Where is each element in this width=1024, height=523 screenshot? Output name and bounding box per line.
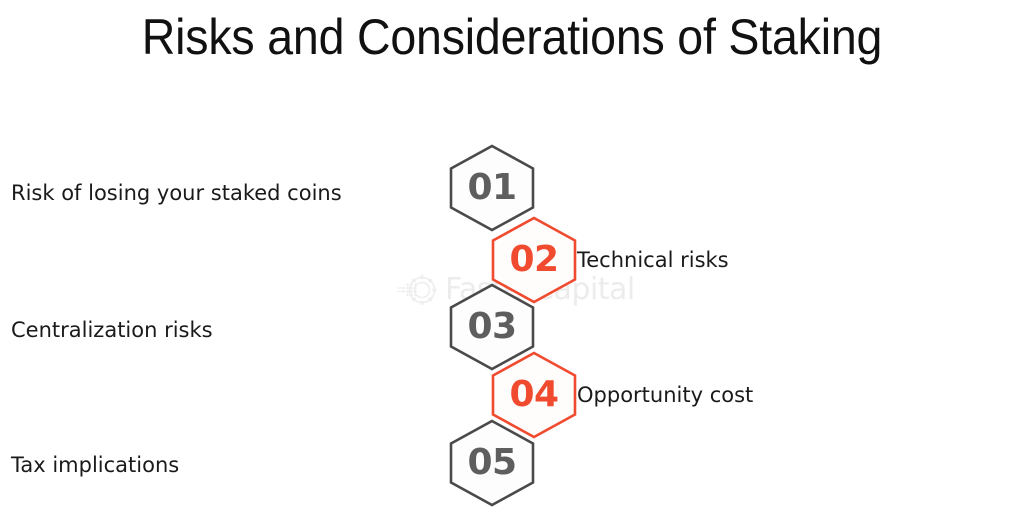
hex-number-05: 05 (449, 419, 535, 507)
hex-node-05[interactable]: 05 (449, 419, 535, 507)
slide-canvas: Risks and Considerations of Staking (0, 0, 1024, 523)
hex-label-01: Risk of losing your staked coins (11, 180, 342, 206)
hex-label-02: Technical risks (577, 247, 729, 273)
hex-label-04: Opportunity cost (577, 382, 753, 408)
hex-label-05: Tax implications (11, 452, 179, 478)
hexagon-chain: 01 02 03 04 05 (0, 0, 1024, 523)
hex-label-03: Centralization risks (11, 317, 213, 343)
